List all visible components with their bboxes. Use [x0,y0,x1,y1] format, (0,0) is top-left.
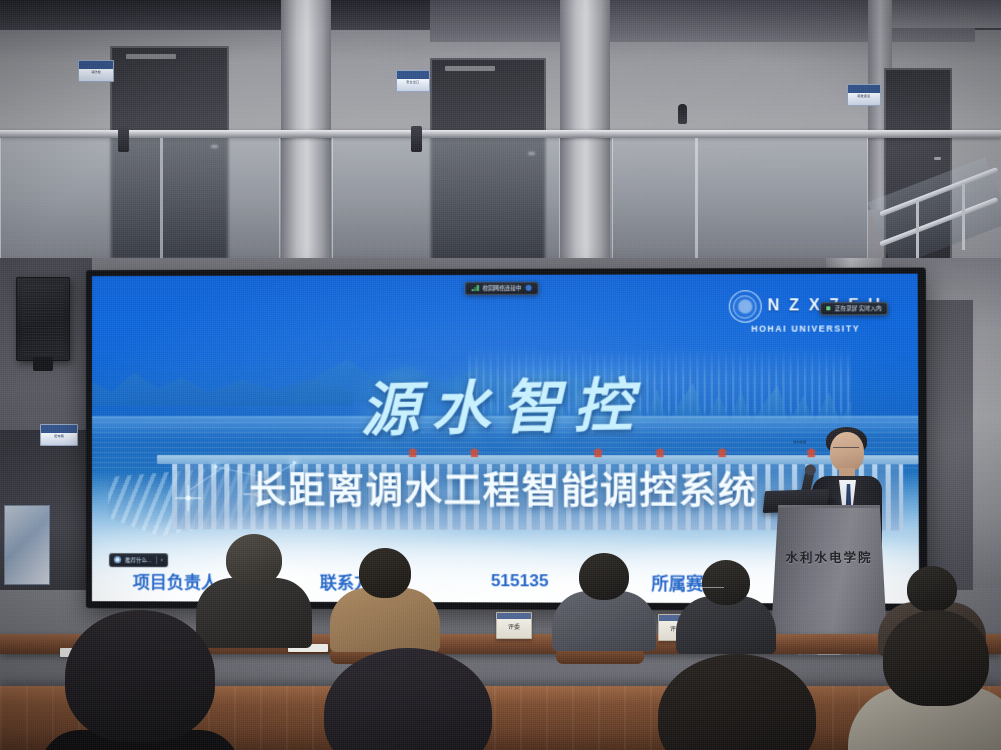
glass-panel [332,138,560,278]
foreground-head [65,610,215,742]
sign-header-bar [41,425,77,433]
rail-post [118,126,129,152]
door-closer-icon [126,54,177,59]
foreground-person [40,610,240,750]
crane-icon [592,448,603,457]
dam-cranes [398,448,841,457]
avatar-icon [526,285,532,291]
crane-icon [407,448,418,457]
glass-balustrade [0,130,1001,278]
network-toast[interactable]: 校园网络连接中 [465,282,539,295]
wall-sign-label: 请勿吸烟 [793,439,806,444]
wall-sign: 配电箱 [40,424,78,446]
rail-post [411,126,422,152]
handrail [0,130,1001,138]
audience-body [552,591,656,651]
app-icon [114,557,121,564]
glasses-icon [694,582,724,588]
glass-panel [0,138,280,278]
glasses-icon [833,447,859,454]
audience-head [579,553,629,600]
wall-sign-label: 配电箱 [54,433,64,438]
foreground-person [292,648,524,750]
recording-toast[interactable]: 正在录屏 实时入内 [820,302,887,315]
sign-header-bar [79,61,113,69]
name-placard: 评委 [496,612,532,639]
crane-icon [469,448,480,457]
hohai-crest-icon [729,291,762,323]
wall-sign-label: 安全出口 [406,79,419,84]
crane-icon [654,448,665,457]
network-node [214,465,217,468]
slide-title-calligraphy: 源水智控 [359,357,645,447]
recording-toast-text: 正在录屏 实时入内 [835,305,882,313]
glass-panel [612,138,868,278]
foreground-head [658,654,816,750]
foreground-person [856,600,1001,750]
ceiling-beam-right [880,0,1001,28]
door-closer-icon [445,66,494,71]
audience-member [552,553,656,649]
presentation-hall-photo: 消防栓 安全出口 疏散通道 [0,0,1001,750]
wall-sign-label: 消防栓 [91,69,101,74]
wall-poster [4,505,50,585]
glass-mullion [695,138,698,278]
recording-indicator-icon [826,307,830,311]
audience-member [676,560,776,652]
sign-header-bar [397,71,429,79]
footer-contact-value: 515135 [491,571,549,591]
wall-sign: 消防栓 [78,60,114,82]
audience-member [330,548,440,650]
wall-sign: 疏散通道 [847,84,881,106]
sign-header-bar [848,85,880,93]
ceiling-sensor-icon [678,104,687,124]
audience-head [359,548,411,598]
placard-name: 评委 [497,622,531,631]
speaker-grill [22,283,64,355]
wall-sign-label: 疏散通道 [857,93,870,98]
logo-en-name: HOHAI UNIVERSITY [751,324,860,334]
foreground-person [630,654,844,750]
stair-post [916,200,919,262]
speaker-icon [16,277,70,361]
foreground-head [324,648,492,750]
speaker-bracket [33,357,54,371]
podium-label: 水利水电学院 [770,547,888,566]
signal-bars-icon [472,285,479,291]
divider [156,556,157,564]
taskbar-chip[interactable]: 推荐什么... › [109,553,168,567]
network-toast-text: 校园网络连接中 [482,284,521,292]
audience-head [226,534,282,586]
chevron-right-icon[interactable]: › [161,557,163,563]
wall-sign: 安全出口 [396,70,430,92]
taskbar-chip-text: 推荐什么... [125,556,152,564]
crane-icon [717,448,728,457]
foreground-head [883,610,989,706]
stair-post [962,184,965,250]
glass-mullion [160,138,163,278]
slide-subtitle: 长距离调水工程智能调控系统 [249,460,757,515]
